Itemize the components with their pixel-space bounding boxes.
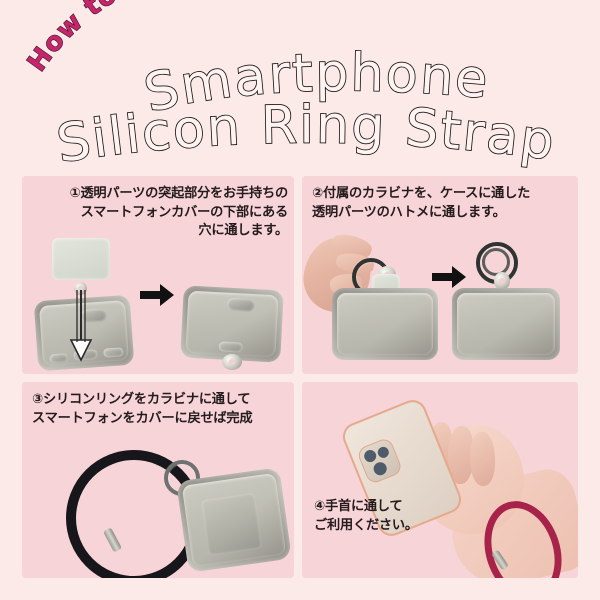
phone-case-complete — [176, 467, 292, 573]
step-2-figure — [302, 176, 578, 374]
installed-eyelet — [222, 354, 242, 370]
speaker-cutout-1b — [103, 347, 124, 357]
step-1-progress-arrow — [140, 282, 174, 308]
step-3-figure — [22, 382, 294, 578]
clear-tab — [52, 238, 110, 280]
card-slot — [201, 493, 262, 556]
step-panel-2: ②付属のカラビナを、ケースに通した 透明パーツのハトメに通します。 — [302, 176, 578, 374]
step-panel-3: ③シリコンリングをカラビナに通して スマートフォンをカバーに戻せば完成 — [22, 382, 294, 578]
header: How to Use Smartphone Silicon Ring Strap — [0, 0, 600, 172]
steps-grid: ①透明パーツの突起部分をお手持ちの スマートフォンカバーの下部にある 穴に通しま… — [22, 176, 578, 578]
case-inner-3 — [337, 293, 433, 355]
step-panel-1: ①透明パーツの突起部分をお手持ちの スマートフォンカバーの下部にある 穴に通しま… — [22, 176, 294, 374]
title-line-2: Silicon Ring Strap — [53, 95, 559, 170]
camera-cutout-2 — [227, 298, 256, 312]
speaker-cutout-1 — [49, 353, 68, 363]
camera-lens-1 — [362, 448, 378, 464]
instruction-infographic: How to Use Smartphone Silicon Ring Strap… — [0, 0, 600, 600]
step-4-figure — [302, 382, 578, 578]
insert-direction-arrow — [68, 288, 94, 364]
camera-module — [356, 436, 404, 485]
camera-lens-3 — [372, 460, 389, 477]
step-panel-4: ④手首に通して ご利用ください。 — [302, 382, 578, 578]
step-2-progress-arrow — [432, 264, 466, 290]
title-block: Smartphone Silicon Ring Strap — [0, 40, 600, 170]
case-inner-4 — [457, 293, 555, 355]
carabiner-ring-attached-inner — [482, 248, 510, 276]
port-cutout-2 — [219, 341, 243, 352]
phone-case-result — [452, 288, 560, 360]
phone-case-after — [180, 285, 284, 362]
camera-lens-2 — [376, 445, 390, 459]
phone-case-with-tab — [332, 288, 438, 360]
step-4-caption: ④手首に通して ご利用ください。 — [314, 498, 494, 535]
step-1-figure — [22, 176, 294, 374]
